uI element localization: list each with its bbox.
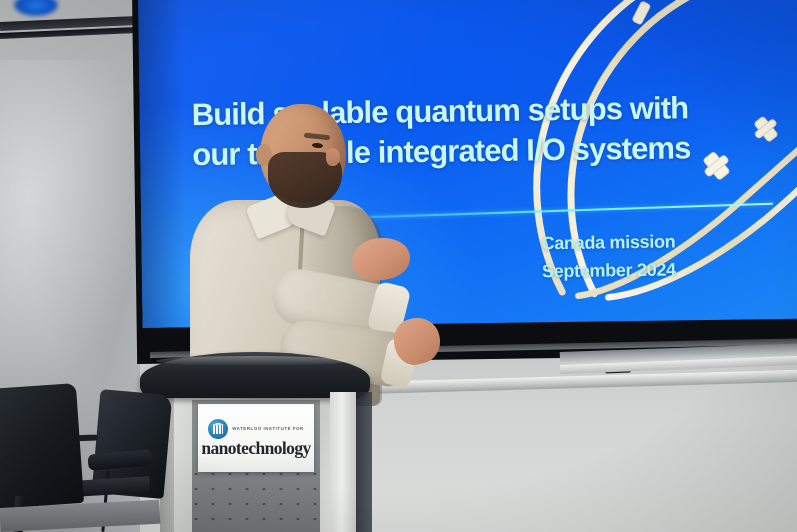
waterloo-institute-nanotechnology-logo-icon bbox=[208, 419, 228, 439]
podium-perforated-panel bbox=[192, 470, 320, 532]
presentation-photo: Build scalable quantum setups with our t… bbox=[0, 0, 797, 532]
left-wall-highlight bbox=[0, 60, 140, 390]
podium-sign-top-row: WATERLOO INSTITUTE FOR bbox=[208, 419, 304, 439]
presenter bbox=[176, 96, 446, 396]
slide-meta-line2: September 2024 bbox=[542, 255, 782, 286]
podium-top-highlight bbox=[156, 356, 346, 366]
conference-chair-foreground bbox=[0, 383, 84, 509]
podium-sign-title: nanotechnology bbox=[201, 440, 310, 458]
presenter-nose bbox=[326, 148, 340, 166]
wall-column-shadow bbox=[356, 392, 372, 532]
wall-column bbox=[330, 392, 356, 532]
slide-meta-line1: Canada mission bbox=[541, 227, 781, 258]
podium-sign-subtitle: WATERLOO INSTITUTE FOR bbox=[232, 426, 304, 431]
slide-meta: Canada mission September 2024 bbox=[541, 227, 782, 286]
podium-sign: WATERLOO INSTITUTE FOR nanotechnology bbox=[198, 404, 314, 472]
